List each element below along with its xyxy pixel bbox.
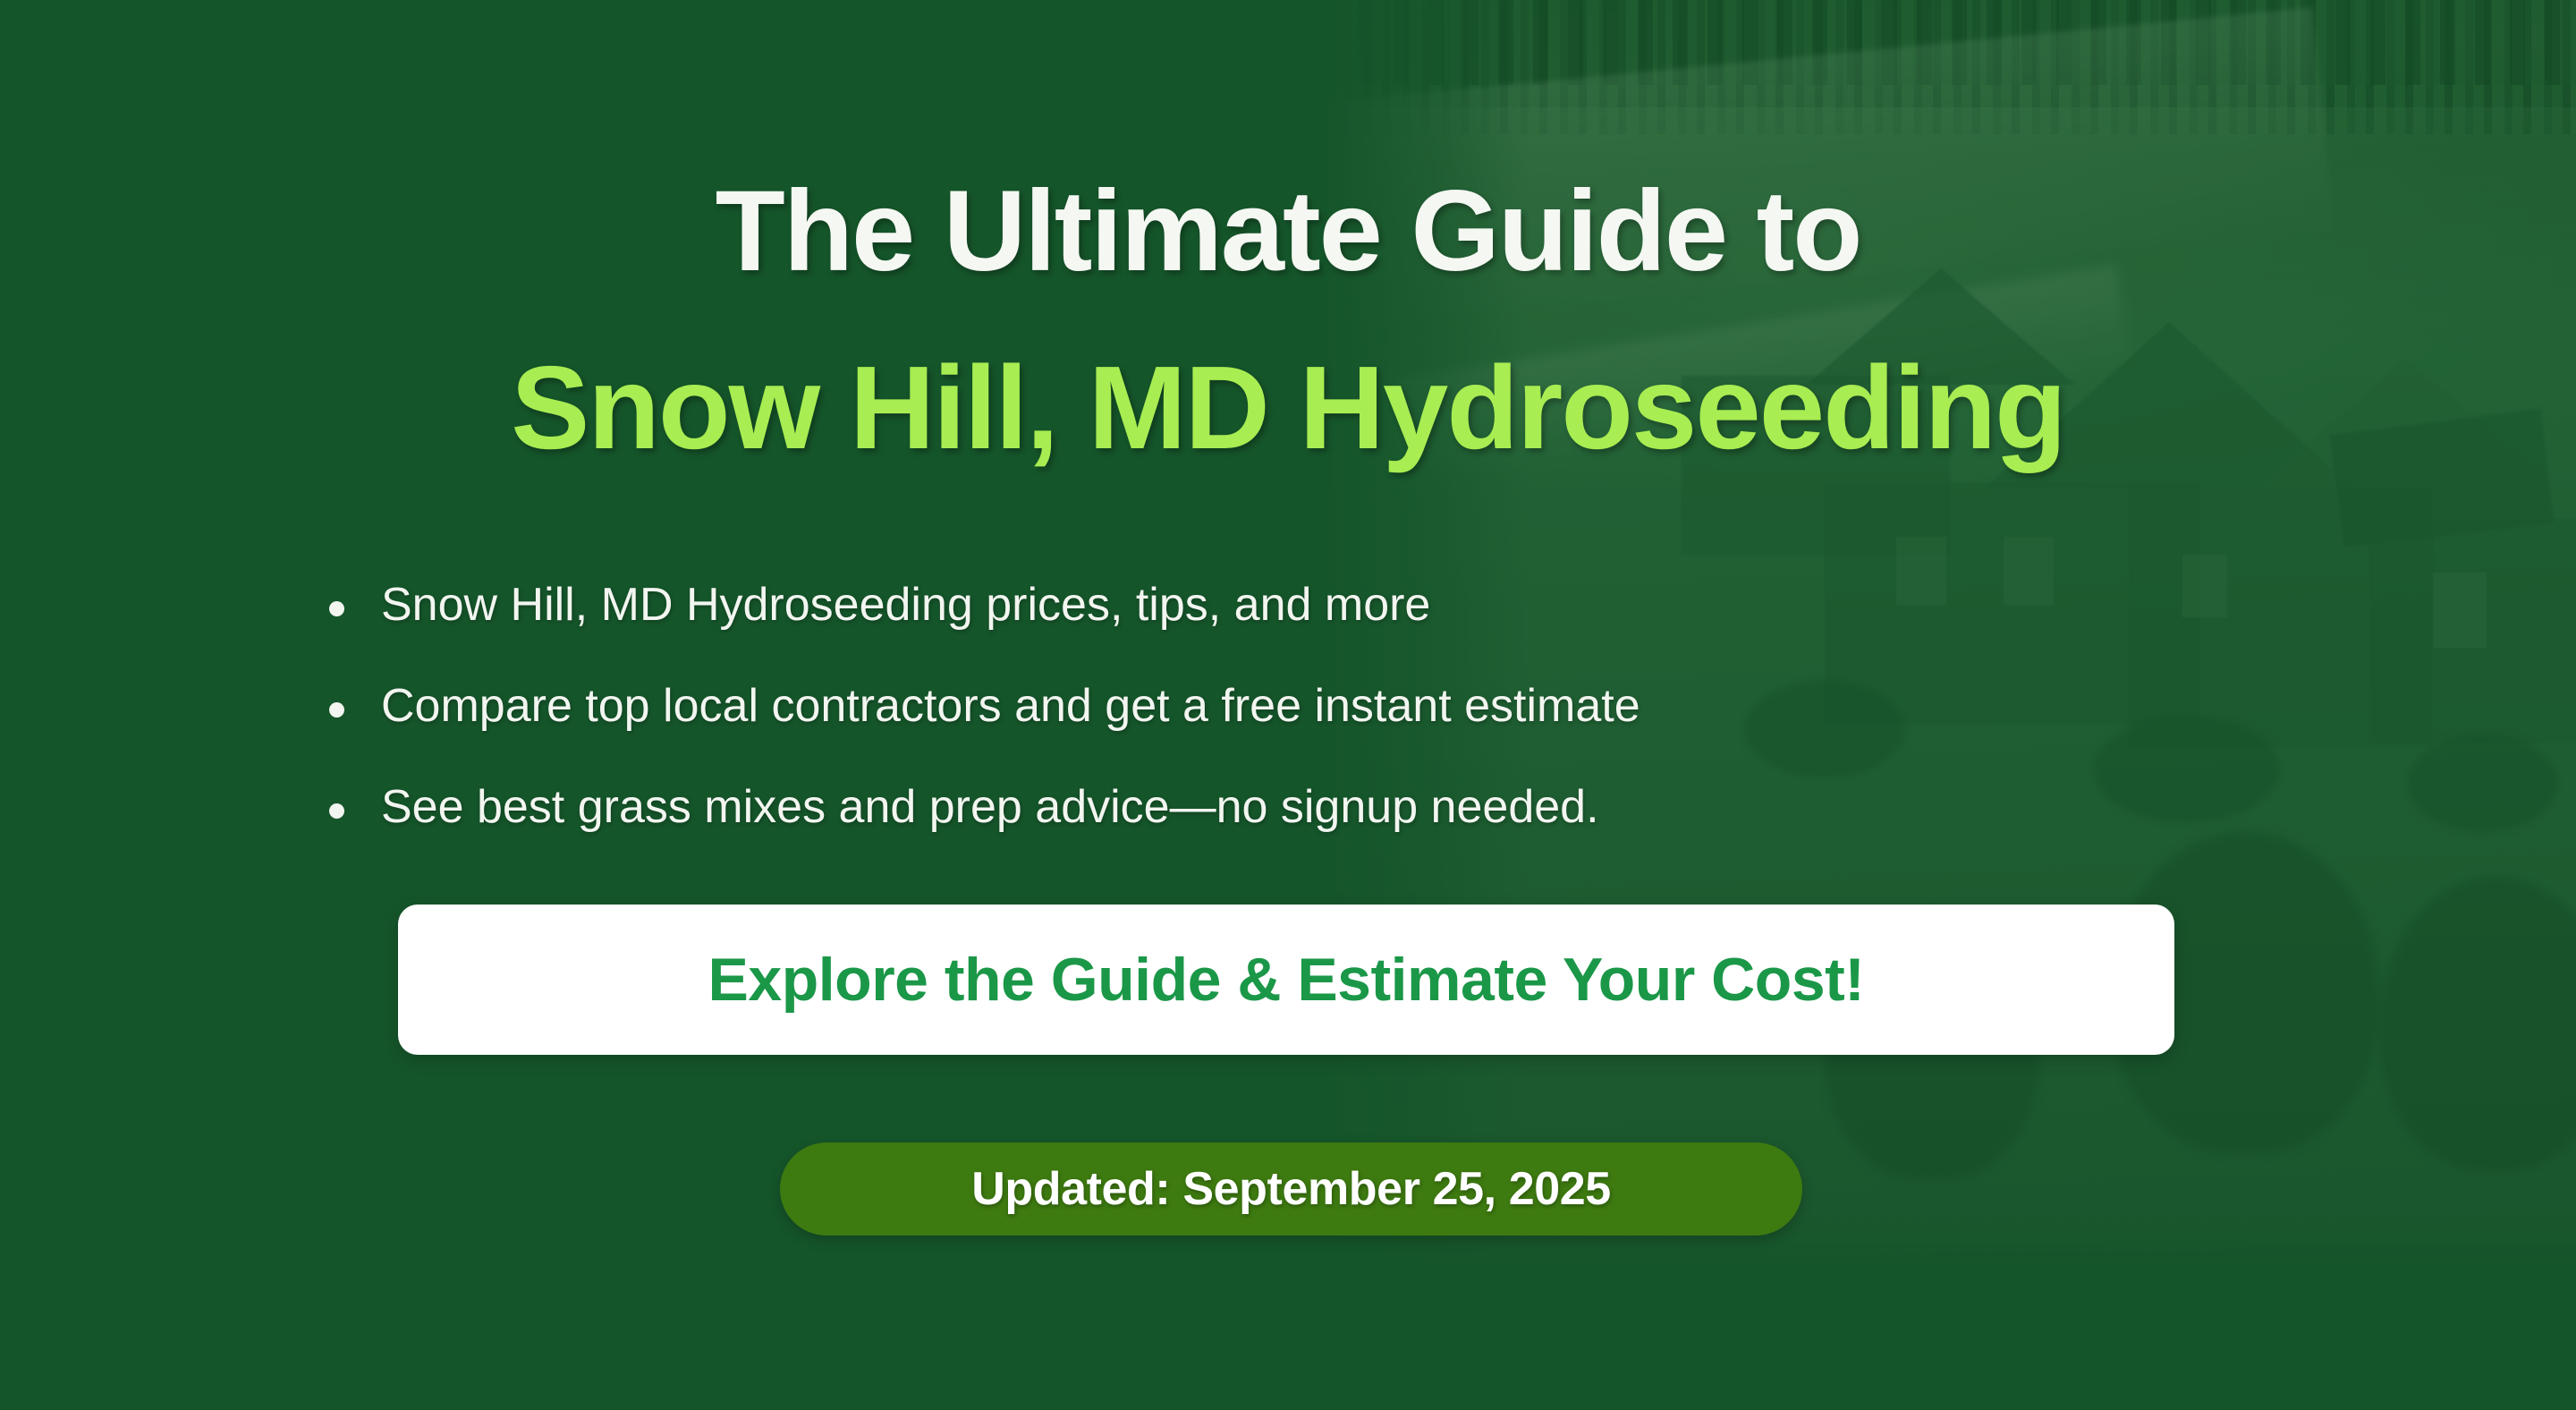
list-item-label: Compare top local contractors and get a … [381, 680, 1640, 732]
list-item: Snow Hill, MD Hydroseeding prices, tips,… [329, 580, 2297, 632]
list-item: Compare top local contractors and get a … [329, 681, 2297, 733]
updated-badge-label: Updated: September 25, 2025 [971, 1162, 1611, 1216]
explore-guide-button[interactable]: Explore the Guide & Estimate Your Cost! [398, 905, 2174, 1055]
page-title-line-1: The Ultimate Guide to [0, 174, 2576, 289]
bullet-dot-icon [329, 803, 344, 819]
list-item-label: Snow Hill, MD Hydroseeding prices, tips,… [381, 579, 1430, 631]
hero-content: The Ultimate Guide to Snow Hill, MD Hydr… [0, 0, 2576, 1410]
hero-banner: The Ultimate Guide to Snow Hill, MD Hydr… [0, 0, 2576, 1410]
explore-guide-button-label: Explore the Guide & Estimate Your Cost! [708, 945, 1865, 1015]
bullet-dot-icon [329, 702, 344, 718]
benefits-list: Snow Hill, MD Hydroseeding prices, tips,… [329, 580, 2297, 883]
bullet-dot-icon [329, 601, 344, 616]
list-item: See best grass mixes and prep advice—no … [329, 782, 2297, 834]
list-item-label: See best grass mixes and prep advice—no … [381, 781, 1599, 833]
page-title-line-2: Snow Hill, MD Hydroseeding [0, 349, 2576, 467]
updated-badge: Updated: September 25, 2025 [780, 1142, 1802, 1236]
